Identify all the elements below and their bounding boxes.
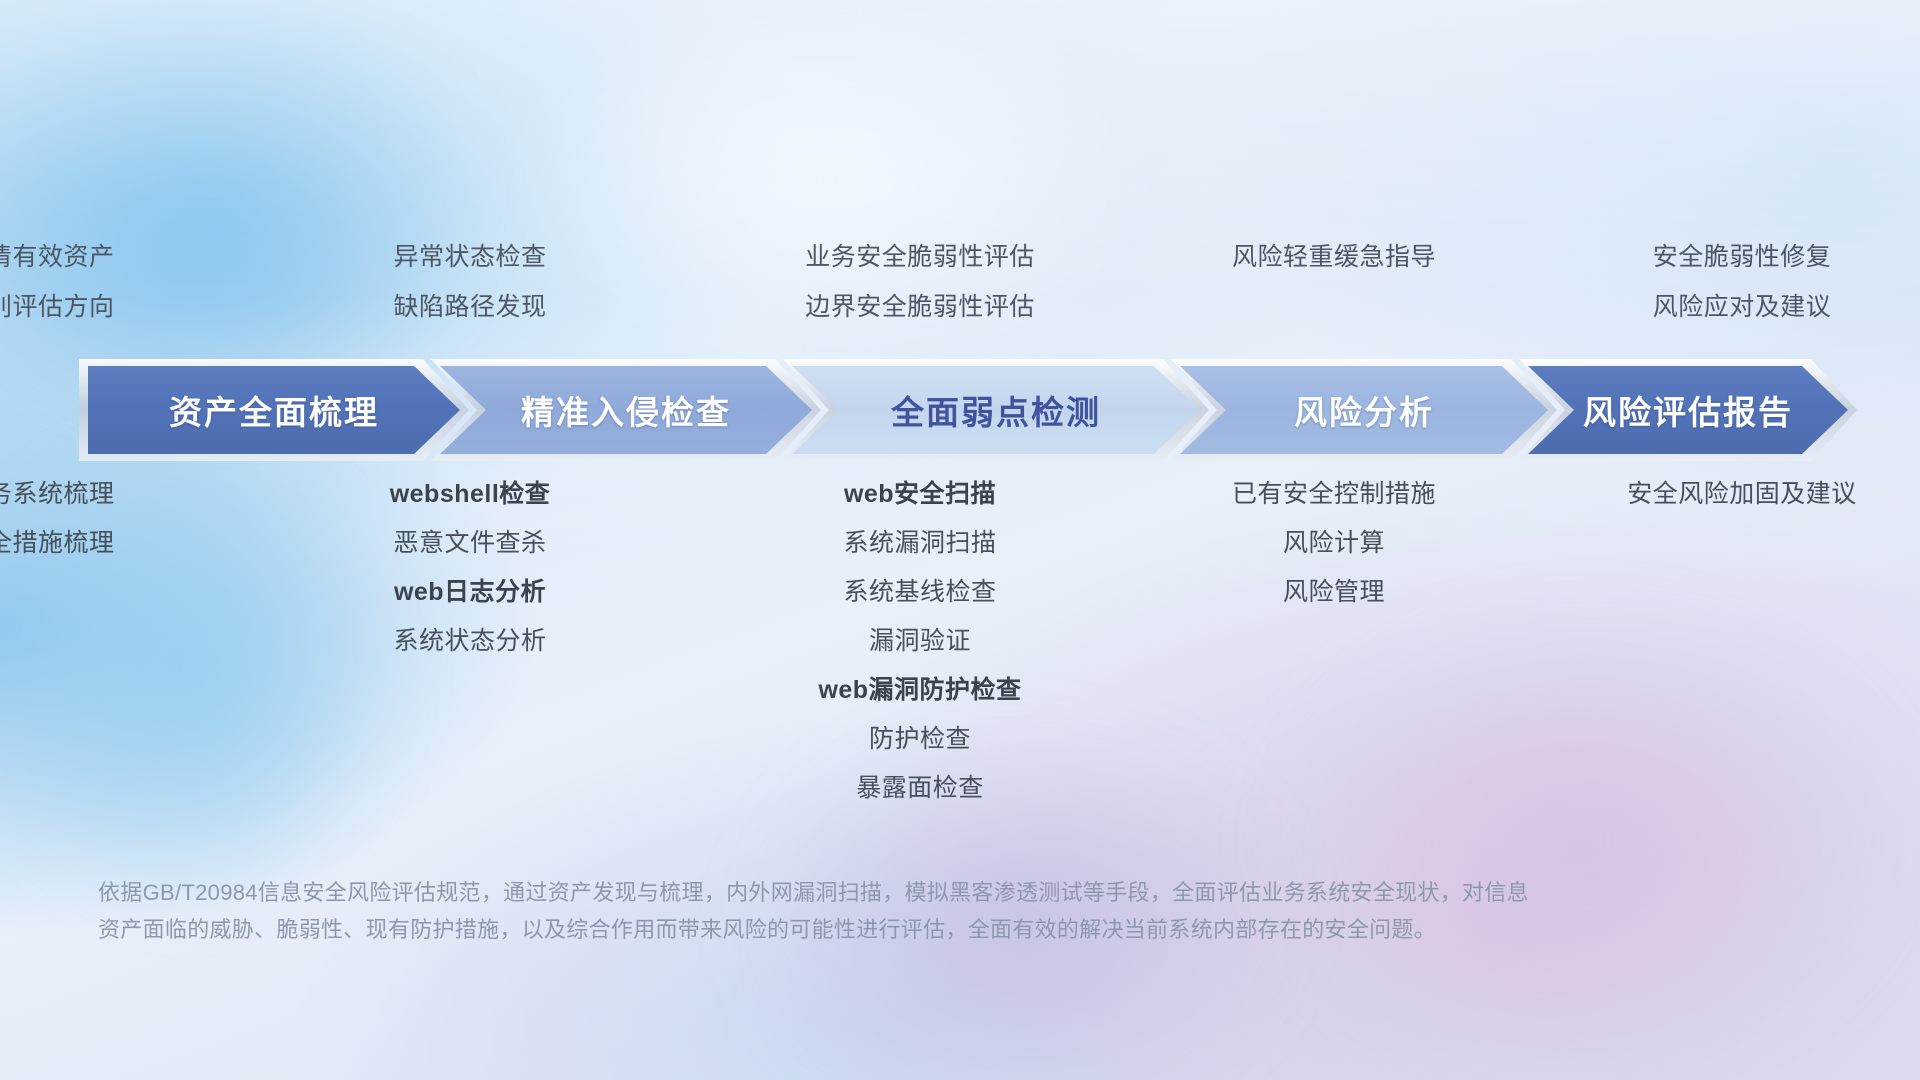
detail-list-item: 系统漏洞扫描: [728, 519, 1112, 568]
top-feature-item: 异常状态检查: [278, 232, 662, 282]
top-feature-item: 风险轻重缓急指导: [1142, 232, 1526, 282]
detail-list-item: 风险管理: [1142, 568, 1526, 617]
top-features-risk-analysis: 风险轻重缓急指导: [1142, 232, 1526, 332]
top-feature-item: 风险应对及建议: [1550, 282, 1920, 332]
bottom-detail-row: 业务系统梳理 安全措施梳理 webshell检查 恶意文件查杀 web日志分析 …: [0, 470, 1920, 813]
detail-list-item: 漏洞验证: [728, 617, 1112, 666]
process-step-label: 全面弱点检测: [891, 386, 1101, 434]
top-feature-item: 识别评估方向: [0, 282, 230, 332]
detail-list-item: 已有安全控制措施: [1142, 470, 1526, 519]
process-step-risk-analysis[interactable]: 风险分析: [1180, 366, 1548, 454]
process-arrow-band: 资产全面梳理 精准入侵检查 全面弱点检测 风险分析 风险评估报告: [88, 366, 1848, 454]
process-step-label: 风险评估报告: [1583, 386, 1793, 434]
detail-list-item: 防护检查: [728, 715, 1112, 764]
top-feature-item: 理清有效资产: [0, 232, 230, 282]
process-step-weakness-detection[interactable]: 全面弱点检测: [792, 366, 1200, 454]
footer-description: 依据GB/T20984信息安全风险评估规范，通过资产发现与梳理，内外网漏洞扫描，…: [98, 874, 1658, 948]
detail-list-item: 业务系统梳理: [0, 470, 230, 519]
process-step-label: 精准入侵检查: [521, 386, 731, 434]
top-features-asset-inventory: 理清有效资产 识别评估方向: [0, 232, 230, 332]
process-step-intrusion-check[interactable]: 精准入侵检查: [440, 366, 812, 454]
detail-list-item: 安全措施梳理: [0, 519, 230, 568]
top-features-risk-report: 安全脆弱性修复 风险应对及建议: [1550, 232, 1920, 332]
process-step-asset-inventory[interactable]: 资产全面梳理: [88, 366, 460, 454]
detail-list-item: web安全扫描: [728, 470, 1112, 519]
detail-list-item: web日志分析: [278, 568, 662, 617]
detail-list-asset-inventory: 业务系统梳理 安全措施梳理: [0, 470, 230, 813]
detail-list-item: 风险计算: [1142, 519, 1526, 568]
top-features-weakness-detection: 业务安全脆弱性评估 边界安全脆弱性评估: [728, 232, 1112, 332]
process-step-label: 资产全面梳理: [169, 386, 379, 434]
process-step-risk-report[interactable]: 风险评估报告: [1528, 366, 1848, 454]
process-step-label: 风险分析: [1294, 386, 1434, 434]
detail-list-intrusion-check: webshell检查 恶意文件查杀 web日志分析 系统状态分析: [278, 470, 662, 813]
footer-line: 资产面临的威胁、脆弱性、现有防护措施，以及综合作用而带来风险的可能性进行评估，全…: [98, 911, 1658, 948]
detail-list-item: 恶意文件查杀: [278, 519, 662, 568]
footer-line: 依据GB/T20984信息安全风险评估规范，通过资产发现与梳理，内外网漏洞扫描，…: [98, 874, 1658, 911]
top-feature-item: 边界安全脆弱性评估: [728, 282, 1112, 332]
top-feature-item: 业务安全脆弱性评估: [728, 232, 1112, 282]
detail-list-item: 系统状态分析: [278, 617, 662, 666]
process-diagram: 理清有效资产 识别评估方向 异常状态检查 缺陷路径发现 业务安全脆弱性评估 边界…: [0, 0, 1920, 1080]
detail-list-risk-report: 安全风险加固及建议: [1550, 470, 1920, 813]
detail-list-item: web漏洞防护检查: [728, 666, 1112, 715]
detail-list-risk-analysis: 已有安全控制措施 风险计算 风险管理: [1142, 470, 1526, 813]
detail-list-weakness-detection: web安全扫描 系统漏洞扫描 系统基线检查 漏洞验证 web漏洞防护检查 防护检…: [728, 470, 1112, 813]
top-feature-item: 缺陷路径发现: [278, 282, 662, 332]
detail-list-item: 系统基线检查: [728, 568, 1112, 617]
detail-list-item: 暴露面检查: [728, 764, 1112, 813]
detail-list-item: webshell检查: [278, 470, 662, 519]
top-features-intrusion-check: 异常状态检查 缺陷路径发现: [278, 232, 662, 332]
top-feature-item: 安全脆弱性修复: [1550, 232, 1920, 282]
detail-list-item: 安全风险加固及建议: [1550, 470, 1920, 519]
top-feature-row: 理清有效资产 识别评估方向 异常状态检查 缺陷路径发现 业务安全脆弱性评估 边界…: [0, 232, 1920, 332]
